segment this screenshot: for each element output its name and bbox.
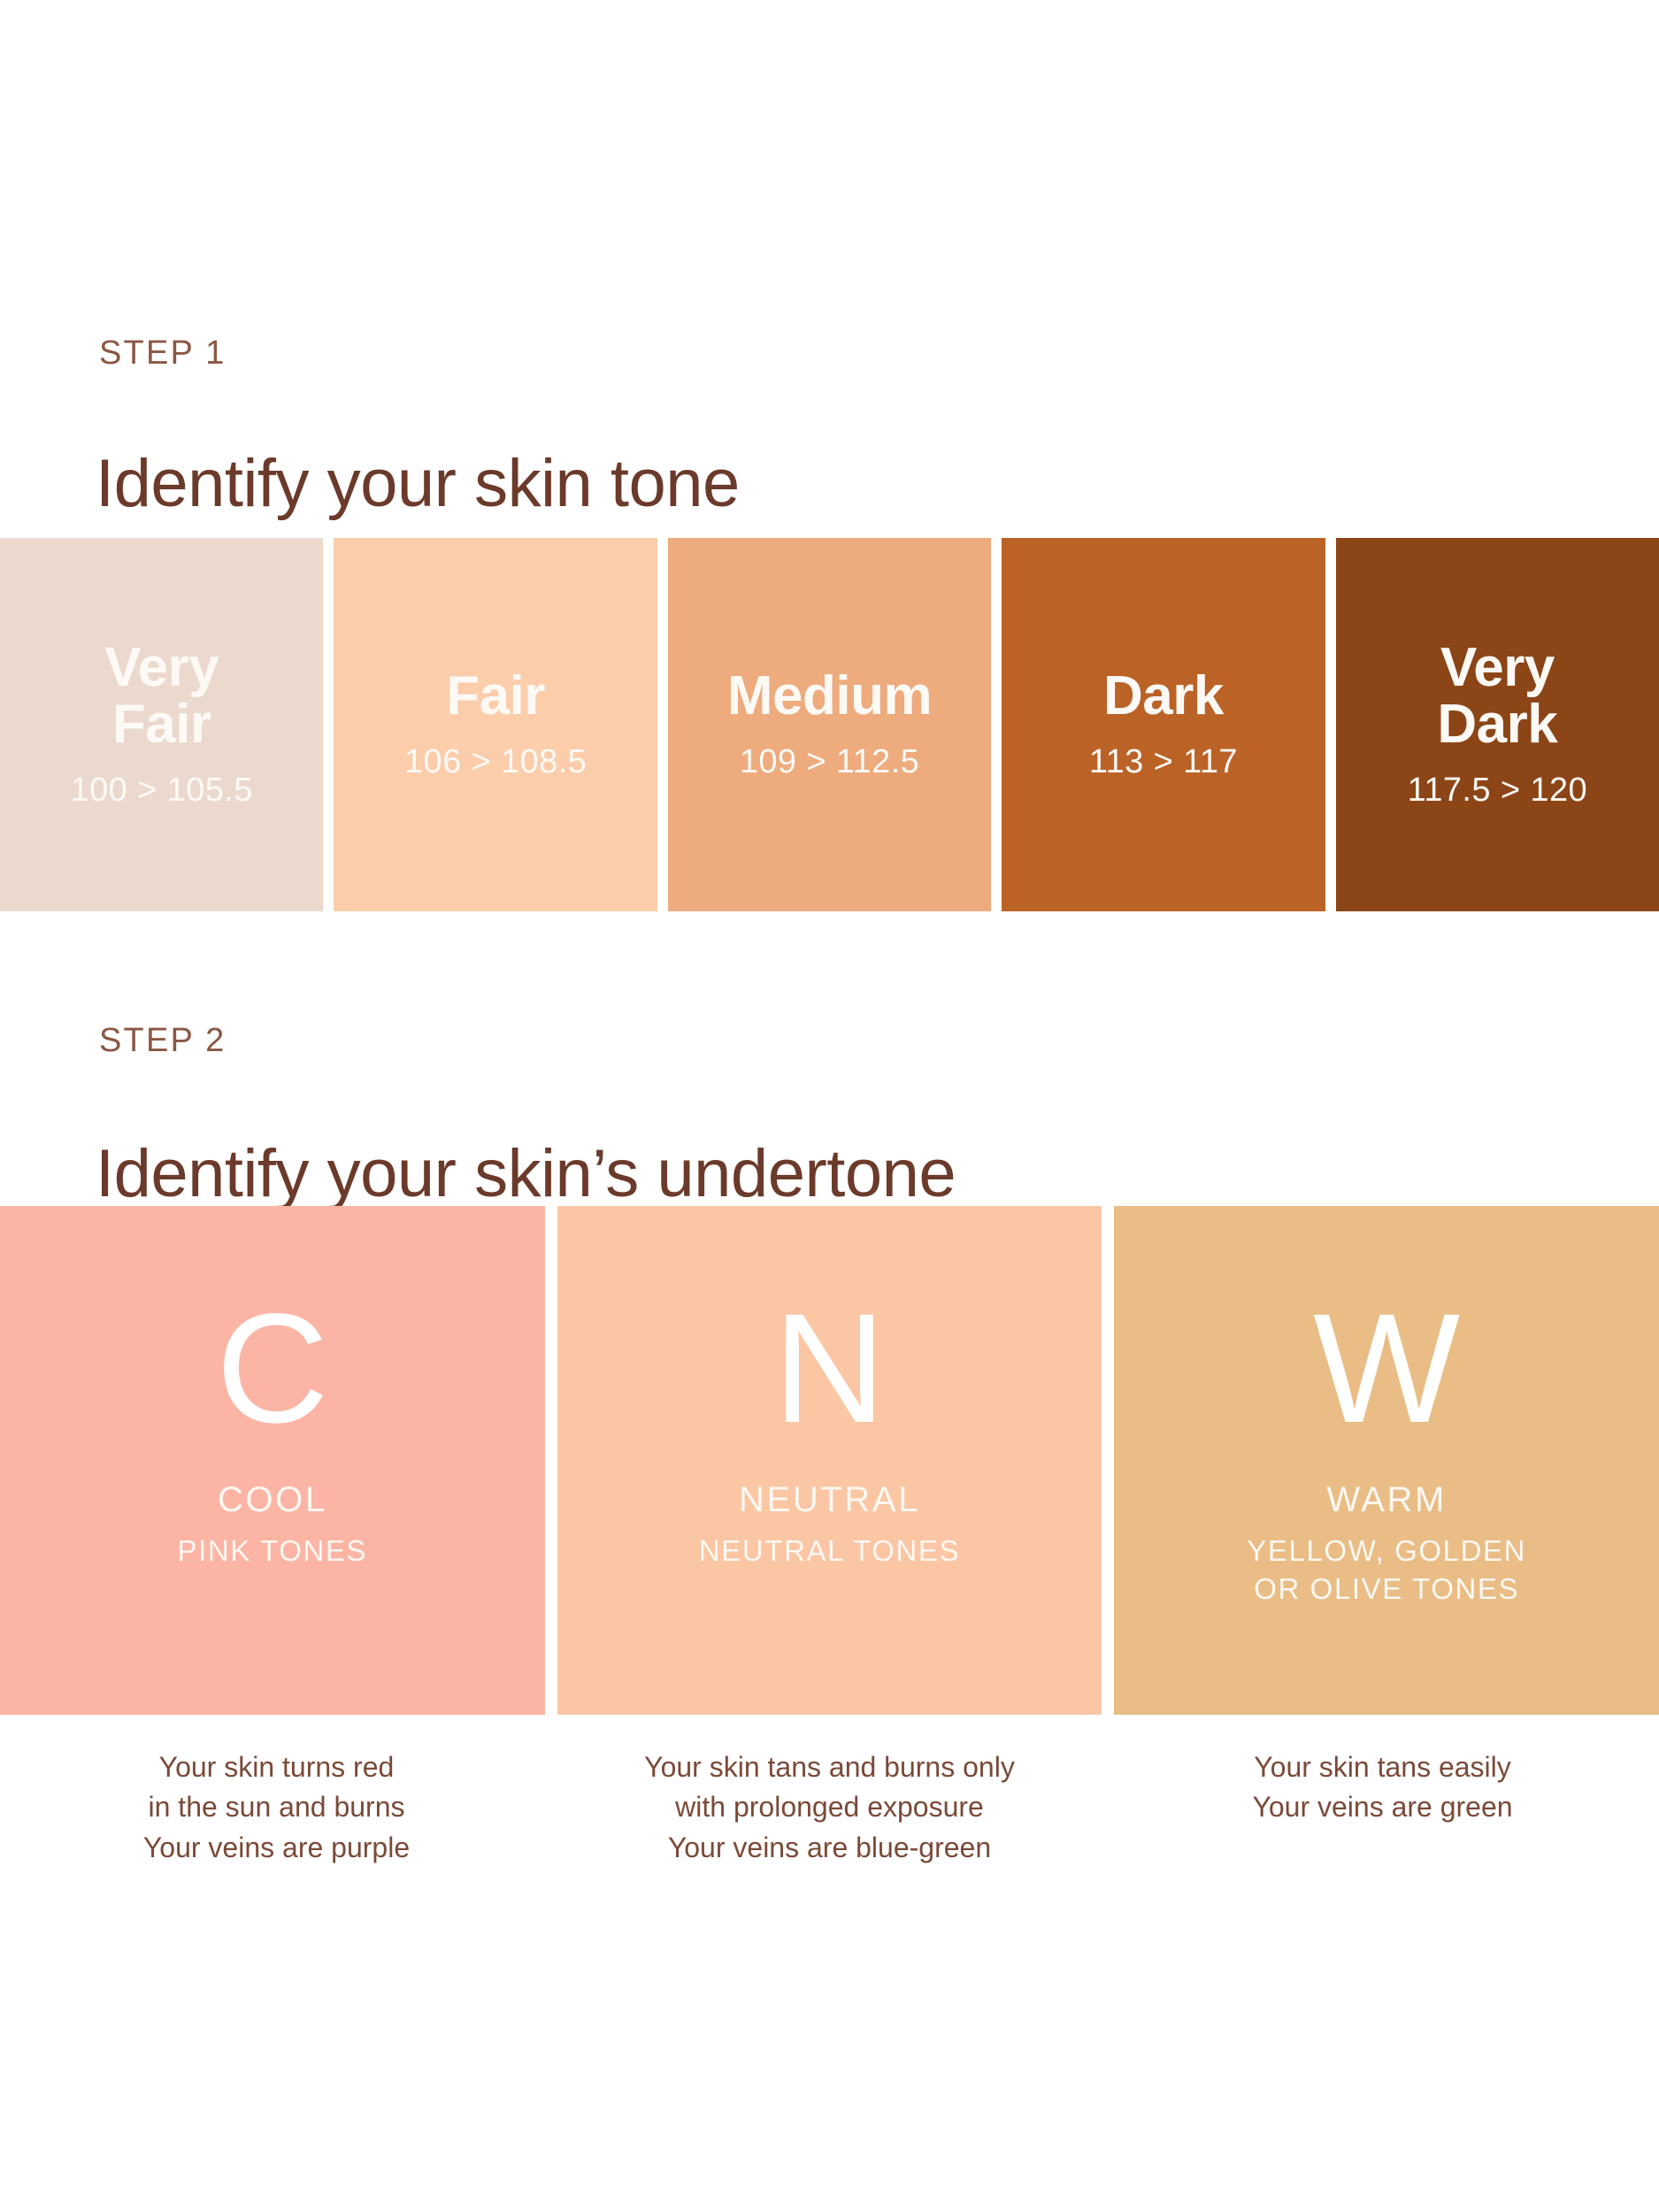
skin-tone-swatch-fair[interactable]: Fair 106 > 108.5 [334,538,657,911]
skin-tone-swatch-dark[interactable]: Dark 113 > 117 [1002,538,1325,911]
undertone-label: NEUTRAL [739,1480,920,1520]
step-1-eyebrow: STEP 1 [99,334,226,373]
undertone-label: COOL [218,1480,327,1520]
step-1-title: Identify your skin tone [96,445,740,522]
undertone-caption: Your skin tans and burns only with prolo… [644,1747,1015,1868]
undertone-letter: C [216,1298,328,1441]
undertone-sublabel: YELLOW, GOLDEN OR OLIVE TONES [1247,1532,1526,1609]
undertone-letter: W [1313,1298,1460,1441]
skin-tone-guide-page: STEP 1 Identify your skin tone Very Fair… [0,0,1659,2212]
skin-tone-swatch-very-fair[interactable]: Very Fair 100 > 105.5 [0,538,323,911]
skin-tone-range: 113 > 117 [1089,743,1238,781]
skin-tone-range: 106 > 108.5 [404,743,587,781]
skin-tone-swatch-medium[interactable]: Medium 109 > 112.5 [668,538,991,911]
skin-tone-range: 117.5 > 120 [1408,772,1587,810]
undertone-block-cool[interactable]: C COOL PINK TONES [0,1206,545,1715]
skin-tone-name: Medium [727,668,932,724]
undertone-caption-row: Your skin turns red in the sun and burns… [0,1747,1659,1868]
skin-tone-name: Very Dark [1437,640,1557,751]
undertone-block-row: C COOL PINK TONES N NEUTRAL NEUTRAL TONE… [0,1206,1659,1715]
skin-tone-range: 100 > 105.5 [71,772,253,810]
undertone-sublabel: NEUTRAL TONES [699,1532,960,1571]
undertone-caption: Your skin tans easily Your veins are gre… [1252,1747,1512,1868]
undertone-caption: Your skin turns red in the sun and burns… [143,1747,410,1868]
undertone-block-neutral[interactable]: N NEUTRAL NEUTRAL TONES [557,1206,1102,1715]
undertone-sublabel: PINK TONES [177,1532,367,1571]
undertone-block-warm[interactable]: W WARM YELLOW, GOLDEN OR OLIVE TONES [1114,1206,1659,1715]
undertone-caption-cell-neutral: Your skin tans and burns only with prolo… [553,1747,1106,1868]
skin-tone-name: Fair [446,668,545,724]
skin-tone-swatch-very-dark[interactable]: Very Dark 117.5 > 120 [1336,538,1659,911]
undertone-label: WARM [1326,1480,1447,1520]
skin-tone-swatch-row: Very Fair 100 > 105.5 Fair 106 > 108.5 M… [0,538,1659,911]
undertone-letter: N [773,1298,886,1441]
skin-tone-name: Dark [1103,668,1224,724]
undertone-caption-cell-cool: Your skin turns red in the sun and burns… [0,1747,553,1868]
skin-tone-range: 109 > 112.5 [740,743,919,781]
skin-tone-name: Very Fair [104,640,219,751]
undertone-caption-cell-warm: Your skin tans easily Your veins are gre… [1106,1747,1659,1868]
step-2-title: Identify your skin’s undertone [96,1135,956,1212]
step-2-eyebrow: STEP 2 [99,1022,226,1060]
